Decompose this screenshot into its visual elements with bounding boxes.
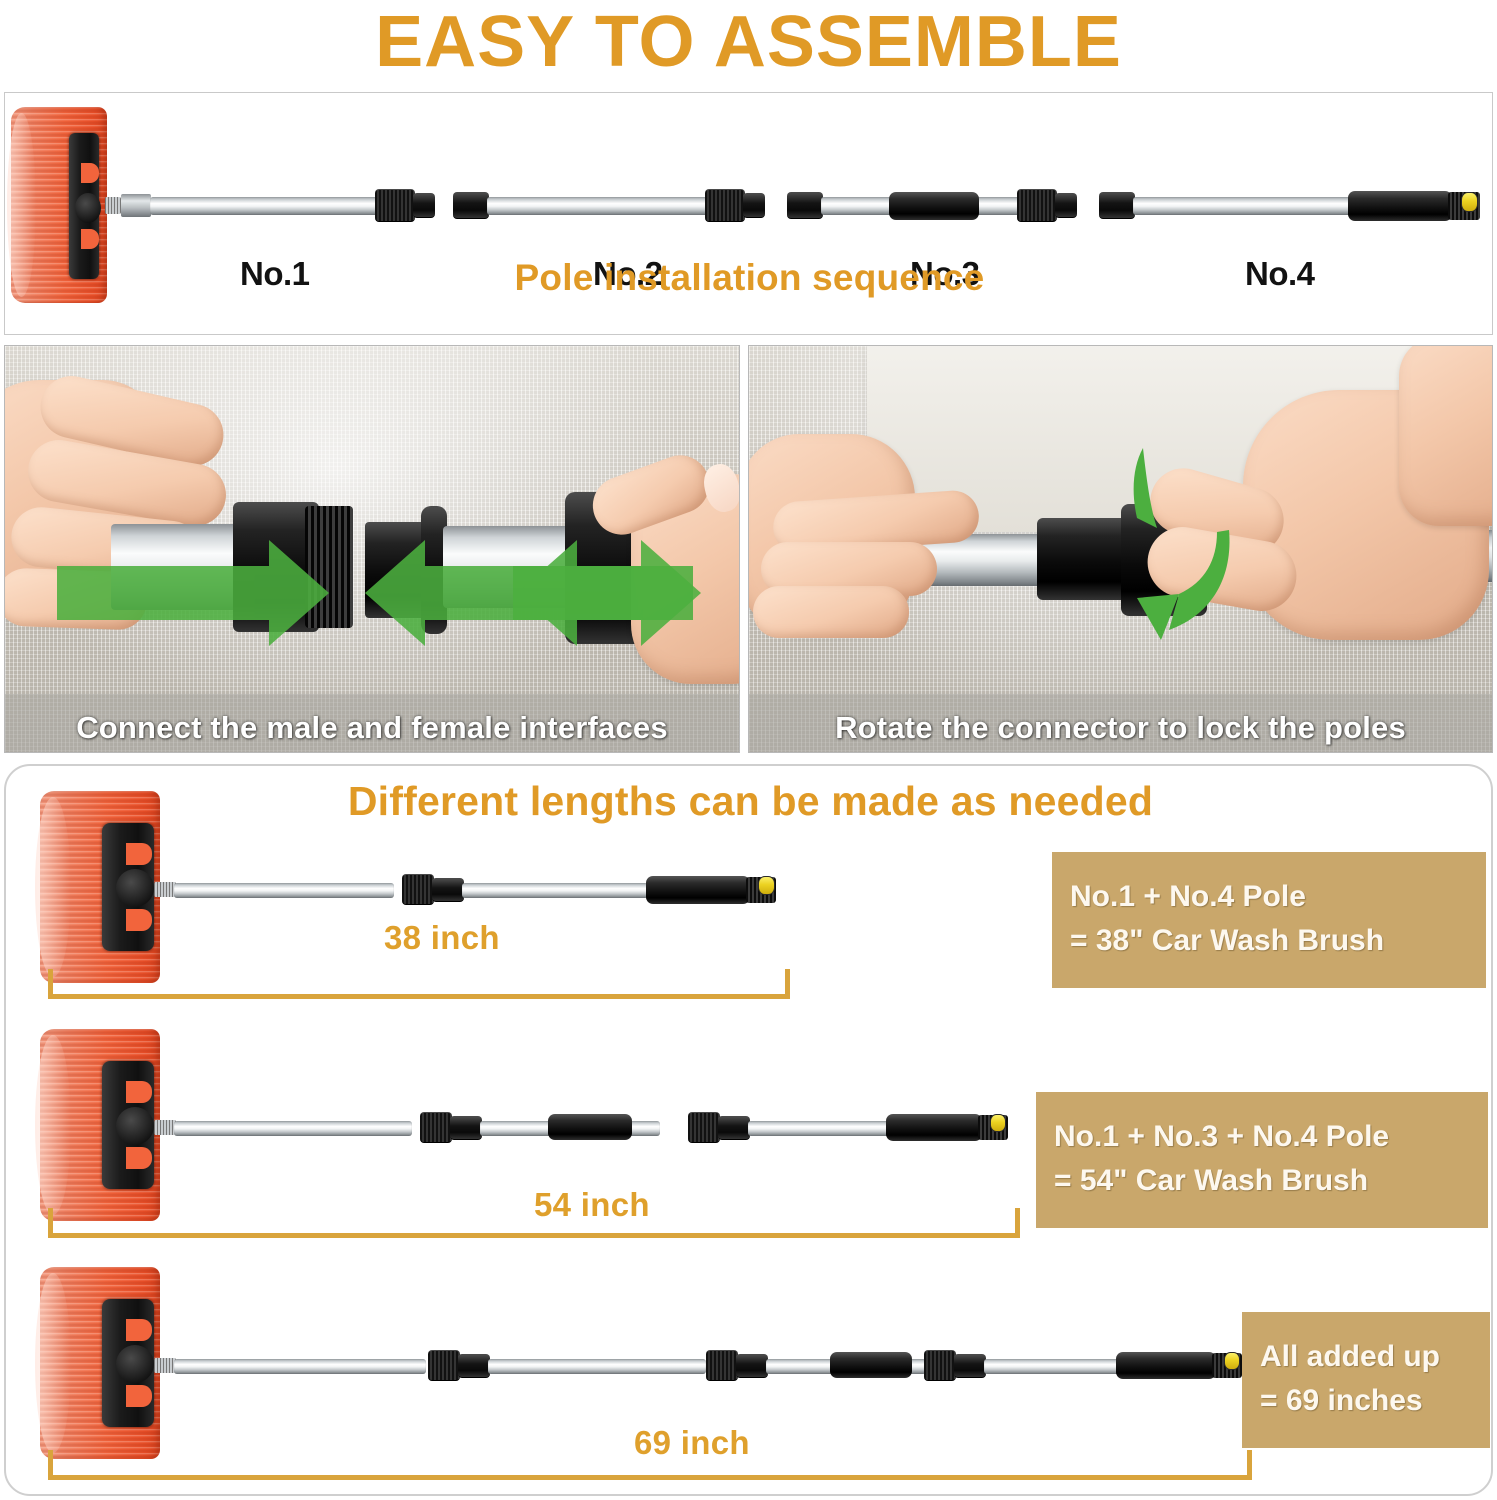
row3-collar-2	[706, 1350, 738, 1381]
row2-yellow-switch	[990, 1114, 1006, 1132]
row1-measure-bracket	[48, 969, 790, 999]
brush-backplate	[102, 823, 154, 951]
left-hand-ring-finger	[753, 586, 909, 638]
row3-config-line1: All added up	[1260, 1335, 1472, 1379]
pole-sleeve-3	[1055, 193, 1077, 218]
row1-pole-segment-1	[174, 883, 394, 898]
backplate-notch-top	[126, 1319, 152, 1341]
backplate-hub	[116, 1107, 154, 1145]
photo-caption-left: Connect the male and female interfaces	[5, 710, 739, 746]
backplate-notch-top	[81, 163, 99, 183]
brush-backplate	[102, 1299, 154, 1427]
lengths-heading: Different lengths can be made as needed	[6, 778, 1493, 825]
page-title: EASY TO ASSEMBLE	[0, 2, 1497, 82]
row3-measure-bracket	[48, 1450, 1252, 1480]
row3-yellow-switch	[1224, 1352, 1240, 1370]
row2-pole-segment-3	[748, 1121, 898, 1136]
backplate-notch-top	[126, 1081, 152, 1103]
curved-rotate-arrow-icon	[1117, 444, 1247, 644]
photo-caption-right: Rotate the connector to lock the poles	[749, 710, 1492, 746]
pole-collar-3	[1017, 189, 1057, 222]
row3-sleeve-3	[954, 1354, 986, 1378]
row2-sleeve-1	[450, 1116, 482, 1140]
row3-config-line2: = 69 inches	[1260, 1379, 1472, 1423]
row3-foam-handle	[1116, 1352, 1216, 1379]
row2-collar-2	[688, 1112, 720, 1143]
pole-foam-grip-3	[889, 192, 979, 220]
pole-sleeve-2b	[787, 192, 823, 219]
row2-foam-grip	[548, 1114, 632, 1140]
row3-pole-segment-4	[984, 1359, 1132, 1374]
row2-foam-handle	[886, 1114, 982, 1141]
row1-sleeve	[432, 878, 464, 902]
row1-foam-handle	[646, 876, 750, 904]
pole-segment-4	[1133, 197, 1355, 215]
pole-segment-1	[150, 197, 385, 215]
pole-ferrule	[121, 194, 151, 217]
row3-brush-screw	[154, 1358, 176, 1373]
row1-yellow-switch	[758, 876, 775, 895]
pole-sequence-caption: Pole installation sequence	[5, 257, 1493, 299]
pole-foam-handle-4	[1348, 191, 1452, 221]
row3-pole-segment-2	[488, 1359, 706, 1374]
infographic-page: EASY TO ASSEMBLE	[0, 0, 1497, 1500]
row3-sleeve-1	[458, 1354, 490, 1378]
right-forearm	[1399, 345, 1493, 526]
row3-foam-grip	[830, 1352, 912, 1378]
row3-config-box: All added up = 69 inches	[1242, 1312, 1490, 1448]
row1-config-line1: No.1 + No.4 Pole	[1070, 875, 1468, 919]
backplate-notch-bottom	[126, 1385, 152, 1407]
backplate-notch-bottom	[81, 229, 99, 249]
backplate-notch-top	[126, 843, 152, 865]
brush-head-row3	[40, 1267, 160, 1459]
lengths-panel: Different lengths can be made as needed …	[4, 764, 1493, 1496]
row2-brush-screw	[154, 1120, 176, 1135]
backplate-hub	[116, 869, 154, 907]
row2-pole-segment-1	[174, 1121, 412, 1136]
brush-backplate	[102, 1061, 154, 1189]
row3-sleeve-2	[736, 1354, 768, 1378]
pole-sleeve-3b	[1099, 192, 1135, 219]
pole-yellow-switch	[1461, 192, 1478, 212]
pole-collar-2	[705, 189, 745, 222]
row2-measure-bracket	[48, 1208, 1020, 1238]
pole-sequence-panel: No.1 No.2 No.3 No.4 Pole installation se…	[4, 92, 1493, 335]
row1-config-box: No.1 + No.4 Pole = 38" Car Wash Brush	[1052, 852, 1486, 988]
row1-brush-screw	[154, 882, 176, 897]
brush-screw-thread	[105, 197, 121, 214]
row1-collar	[402, 874, 434, 905]
pole-segment-2	[487, 197, 709, 215]
backplate-notch-bottom	[126, 1147, 152, 1169]
row1-config-line2: = 38" Car Wash Brush	[1070, 919, 1468, 963]
arrow-right-tail-icon	[513, 538, 703, 648]
row3-collar-1	[428, 1350, 460, 1381]
pole-sleeve-1b	[453, 192, 489, 219]
photo-rotate-connector: Rotate the connector to lock the poles	[748, 345, 1493, 753]
photo-connect-interfaces: Connect the male and female interfaces	[4, 345, 740, 753]
row2-sleeve-2	[718, 1116, 750, 1140]
pole-sleeve-2	[743, 193, 765, 218]
backplate-hub	[116, 1345, 154, 1383]
row1-pole-segment-2	[462, 883, 648, 898]
row1-inch-label: 38 inch	[384, 919, 500, 957]
row2-config-line1: No.1 + No.3 + No.4 Pole	[1054, 1115, 1470, 1159]
brush-head-row2	[40, 1029, 160, 1221]
row2-collar-1	[420, 1112, 452, 1143]
row3-collar-3	[924, 1350, 956, 1381]
pole-sleeve-1	[413, 193, 435, 218]
row2-config-box: No.1 + No.3 + No.4 Pole = 54" Car Wash B…	[1036, 1092, 1488, 1228]
backplate-notch-bottom	[126, 909, 152, 931]
brush-head-row1	[40, 791, 160, 983]
backplate-hub	[75, 193, 101, 223]
row2-config-line2: = 54" Car Wash Brush	[1054, 1159, 1470, 1203]
row3-pole-segment-1	[174, 1359, 426, 1374]
pole-collar-1	[375, 189, 415, 222]
